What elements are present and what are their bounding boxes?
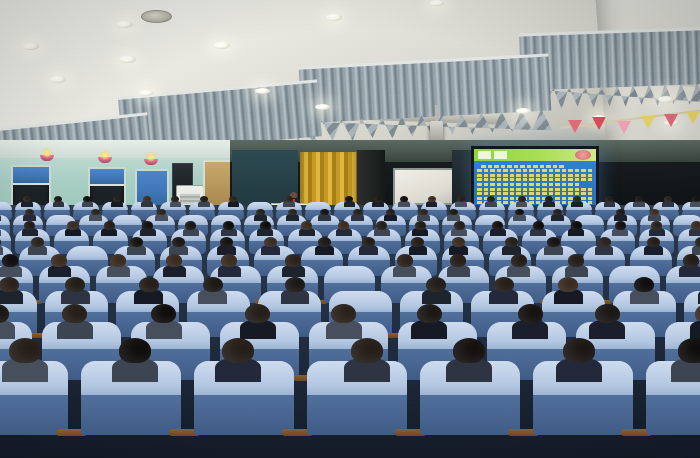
audience-member [692,196,700,206]
audience-shoulders [21,201,33,207]
audience-member [338,221,349,235]
audience-member [533,221,544,235]
audience-member [598,237,611,253]
ceiling-downlight [22,43,39,50]
window-roller-blind[interactable] [90,169,124,186]
audience-member [454,221,465,235]
ceiling-downlight [139,90,153,96]
audience-member [185,221,196,235]
audience-shoulders [198,201,210,207]
audience-head [51,254,67,266]
audience-head [647,237,660,247]
audience-head [130,237,143,247]
audience-head [651,221,662,230]
audience-member [635,196,643,206]
audience-member [151,304,176,335]
seat-headrest-cover [66,246,108,260]
audience-shoulders [513,214,526,221]
slide-text-line [477,174,593,177]
audience-member [615,221,626,235]
audience-member [223,221,234,235]
audience-member [139,277,159,302]
slide-title-bar [474,149,596,161]
audience-member [91,209,100,220]
audience-member [563,338,595,378]
audience-head [598,237,611,247]
audience-head [104,221,115,230]
audience-member [285,254,301,274]
audience-member [428,196,436,206]
audience-member [518,304,543,335]
audience-member [83,196,91,206]
ceiling-downlight [255,88,270,94]
audience-member [2,254,18,274]
audience-head [558,277,578,293]
audience-member [362,237,375,253]
seat-headrest-cover [112,215,142,225]
ceiling-air-vent [141,10,172,23]
audience-head [505,237,518,247]
audience-shoulders [23,214,36,221]
audience-head [568,254,584,266]
audience-member [229,196,237,206]
audience-shoulders [516,201,528,207]
bunting-flag [664,114,678,127]
audience-shoulders [53,201,65,207]
audience-head [494,277,514,293]
audience-member [419,209,428,220]
ceiling-downlight [516,108,531,114]
audience-member [172,237,185,253]
audience-head [157,209,166,216]
audience-head [331,304,356,323]
audience-member [545,196,553,206]
audience-head [453,338,485,363]
audience-head [635,196,643,202]
audience-head [65,277,85,293]
audience-member [452,237,465,253]
audience-member [553,209,562,220]
audience-head [264,237,277,247]
audience-member [285,277,305,302]
audience-head [450,254,466,266]
audience-head [172,237,185,247]
ceiling-downlight [213,42,230,49]
audience-member [449,209,458,220]
audience-member [417,304,442,335]
audience-shoulders [633,201,645,207]
audience-member [426,277,446,302]
slide-text-line [481,165,565,168]
audience-member [450,254,466,274]
audience-member [25,209,34,220]
audience-member [664,196,672,206]
audience-head [151,304,176,323]
audience-shoulders [111,201,123,207]
audience-member [411,237,424,253]
audience-member [571,221,582,235]
audience-member [487,196,495,206]
audience-member [0,277,19,302]
audience-head [260,221,271,230]
ceiling-downlight [116,21,133,28]
audience-head [31,237,44,247]
audience-member [518,196,526,206]
audience-head [695,237,700,247]
audience-member [634,277,654,302]
audience-member [397,254,413,274]
audience-shoulders [662,201,674,207]
audience-head [595,304,620,323]
audience-shoulders [344,201,356,207]
audience-member [605,196,613,206]
audience-member [547,237,560,253]
audience-shoulders [551,214,564,221]
audience-shoulders [614,214,627,221]
audience-shoulders [318,214,331,221]
audience-head [376,221,387,230]
audience-head [362,237,375,247]
audience-member [0,304,9,335]
audience-head [397,254,413,266]
audience-head [67,221,78,230]
audience-shoulders [426,201,438,207]
audience-head [419,209,428,216]
audience-head [454,221,465,230]
audience-member [301,221,312,235]
audience-head [634,277,654,293]
audience-head [515,209,524,216]
audience-head [553,209,562,216]
audience-member [691,221,700,235]
audience-member [386,209,395,220]
ceiling-downlight [430,0,444,6]
audience-member [288,209,297,220]
audience-member [143,196,151,206]
audience-shoulders [155,214,168,221]
audience-shoulders [0,320,15,339]
audience-member [573,196,581,206]
audience-head [285,254,301,266]
audience-head [142,221,153,230]
seat-headrest-cover [324,266,375,283]
slide-text-line [477,188,593,191]
audience-head [222,338,254,363]
audience-member [119,338,151,378]
audience-head [318,237,331,247]
audience-shoulders [690,320,700,339]
audience-head [203,277,223,293]
audience-member [142,221,153,235]
auditorium-photo: 第十二排233第十一排212第十三排第十一排205第九排168第九排第八排152… [0,0,700,458]
audience-member [31,237,44,253]
audience-member [374,196,382,206]
audience-shoulders [286,214,299,221]
audience-head [110,254,126,266]
audience-head [426,277,446,293]
ceiling-downlight [315,104,330,110]
audience-member [0,237,1,253]
audience-shoulders [384,214,397,221]
audience-member [104,221,115,235]
audience-shoulders [283,201,295,207]
bunting-flag [592,117,606,130]
audience-member [166,254,182,274]
slide-text-line [477,183,579,186]
audience-shoulders [82,201,94,207]
audience-shoulders [417,214,430,221]
audience-shoulders [254,214,267,221]
audience-member [221,254,237,274]
audience-head [417,304,442,323]
wall-sconce-light [98,152,112,163]
audience-member [203,277,223,302]
audience-head [166,254,182,266]
audience-member [558,277,578,302]
audience-member [616,209,625,220]
audience-member [67,221,78,235]
audience-member [494,277,514,302]
bunting-flag [686,111,700,124]
audience-member [222,338,254,378]
audience-member [376,221,387,235]
audience-member [320,209,329,220]
audience-member [651,221,662,235]
audience-shoulders [485,201,497,207]
audience-member [9,338,41,378]
audience-head [518,304,543,323]
audience-shoulders [398,201,410,207]
slide-text-line [477,169,593,172]
audience-head [415,221,426,230]
window-roller-blind[interactable] [13,167,49,185]
audience-member [264,237,277,253]
audience-head [338,221,349,230]
audience-shoulders [690,201,700,207]
slide-text-line [477,178,593,181]
audience-head [518,196,526,202]
audience-member [492,221,503,235]
audience-member [200,196,208,206]
bunting-flag [568,120,582,133]
audience-head [571,221,582,230]
audience-member [113,196,121,206]
audience-shoulders [604,201,616,207]
audience-member [345,196,353,206]
audience-head [285,277,305,293]
ceiling-downlight [119,56,136,63]
audience-shoulders [351,214,364,221]
audience-member [647,237,660,253]
audience-head [139,277,159,293]
audience-member [650,209,659,220]
audience-head [533,221,544,230]
audience-shoulders [170,201,182,207]
audience-member [130,237,143,253]
audience-head [683,254,699,266]
audience-head [221,254,237,266]
audience-head [220,237,233,247]
audience-member [260,221,271,235]
audience-head [563,338,595,363]
audience-member [65,277,85,302]
audience-member [457,196,465,206]
audience-member [683,254,699,274]
audience-head [411,237,424,247]
audience-head [351,338,383,363]
audience-member [23,196,31,206]
ceiling-downlight [326,14,342,21]
audience-member [400,196,408,206]
audience-shoulders [571,201,583,207]
audience-member [415,221,426,235]
bunting-flag [617,121,631,134]
slide-title-chip-2 [494,151,507,159]
audience-seating-area: 第十二排233第十一排212第十三排第十一排205第九排168第九排第八排152… [0,205,700,458]
audience-head [91,209,100,216]
audience-head [245,304,270,323]
audience-member [318,237,331,253]
audience-member [331,304,356,335]
slide-text-line [477,192,593,195]
audience-shoulders [543,201,555,207]
audience-head [143,196,151,202]
wall-sconce-light [40,150,54,161]
audience-member [353,209,362,220]
audience-head [691,221,700,230]
audience-member [110,254,126,274]
audience-member [171,196,179,206]
bunting-flag [641,116,655,129]
audience-member [24,221,35,235]
audience-member [678,338,700,378]
slide-title-badge [575,150,591,160]
audience-head [615,221,626,230]
audience-head [24,221,35,230]
audience-head [9,338,41,363]
audience-shoulders [447,214,460,221]
audience-member [245,304,270,335]
audience-head [678,338,700,363]
audience-member [51,254,67,274]
audience-head [62,304,87,323]
audience-shoulders [648,214,661,221]
audience-head [223,221,234,230]
audience-shoulders [141,201,153,207]
audience-member [54,196,62,206]
audience-head [301,221,312,230]
audience-member [256,209,265,220]
audience-member [568,254,584,274]
slide-title-chip-1 [478,151,491,159]
audience-head [428,196,436,202]
audience-head [185,221,196,230]
audience-member [453,338,485,378]
audience-member [62,304,87,335]
audience-head [119,338,151,363]
audience-head [2,254,18,266]
audience-head [547,237,560,247]
audience-shoulders [228,201,240,207]
audience-member [285,196,293,206]
audience-head [0,277,19,293]
audience-head [511,254,527,266]
ceiling-downlight [658,96,674,103]
wall-sconce-light [144,154,158,165]
audience-member [220,237,233,253]
audience-head [452,237,465,247]
audience-shoulders [89,214,102,221]
audience-member [695,304,700,335]
audience-member [157,209,166,220]
audience-shoulders [372,201,384,207]
audience-member [695,237,700,253]
audience-head [492,221,503,230]
audience-member [505,237,518,253]
audience-member [511,254,527,274]
audience-member [351,338,383,378]
audience-shoulders [455,201,467,207]
audience-member [595,304,620,335]
audience-member [515,209,524,220]
ceiling-downlight [50,76,66,83]
